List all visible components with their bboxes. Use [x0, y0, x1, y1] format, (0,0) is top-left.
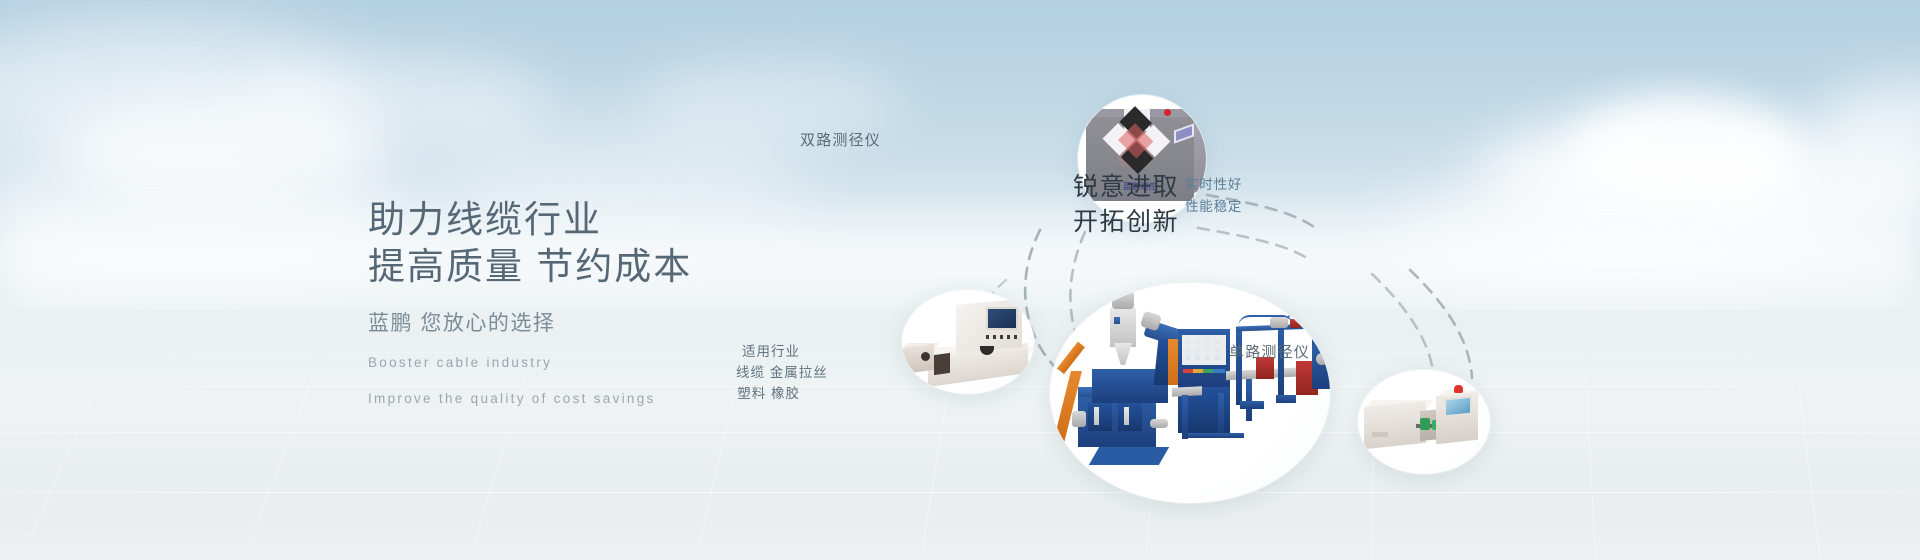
gauge-nameplate: [1372, 432, 1388, 437]
machine-panel-lights-row2: [1185, 347, 1223, 352]
machine-gantry-motor: [1270, 317, 1288, 328]
label-dual-gauge: 双路测径仪: [800, 129, 881, 150]
machine-hopper: [1110, 307, 1136, 347]
machine-trough-leg-3: [1246, 379, 1252, 421]
features-block: 实时性好 性能稳定: [1185, 174, 1242, 218]
machine-motor-left: [1072, 411, 1086, 427]
industries-block: 适用行业 线缆 金属拉丝 塑料 橡胶: [736, 341, 800, 404]
machine-gantry-foot-2: [1276, 395, 1296, 403]
bubble-single-gauge[interactable]: [1358, 370, 1490, 474]
machine-takeup-blue: [1312, 345, 1330, 389]
slogan-line-2: 开拓创新: [1073, 205, 1179, 240]
machine-gantry-foot-1: [1240, 401, 1264, 409]
machine-panel-lights-row3: [1185, 355, 1223, 360]
industries-line-3: 塑料 橡胶: [736, 383, 800, 404]
gauge-display-screen: [1444, 396, 1472, 418]
power-indicator-dot: [1164, 109, 1171, 116]
feature-line-1: 实时性好: [1185, 174, 1242, 196]
headline-copy-block: 助力线缆行业 提高质量 节约成本 蓝鹏 您放心的选择 Booster cable…: [368, 196, 692, 411]
machine-trough-leg-2: [1218, 393, 1224, 435]
machine-payoff-window-2: [1118, 403, 1142, 431]
machine-floor-mat: [1089, 447, 1169, 465]
headline-line-2: 提高质量 节约成本: [368, 243, 692, 290]
bubble-extrusion-line[interactable]: [1050, 283, 1330, 503]
feature-line-2: 性能稳定: [1185, 196, 1242, 218]
machine-hopper-badge: [1114, 317, 1120, 324]
console-lens: [921, 352, 930, 361]
machine-spool-2: [1124, 407, 1129, 425]
slogan-line-1: 锐意进取: [1073, 170, 1179, 205]
label-single-gauge: 单路测径仪: [1229, 341, 1310, 362]
english-tagline-2: Improve the quality of cost savings: [368, 386, 692, 411]
machine-gantry-post-1: [1236, 327, 1242, 405]
english-tagline-1: Booster cable industry: [368, 350, 692, 375]
machine-gantry-red-unit: [1290, 319, 1301, 328]
machine-panel-stripe: [1183, 369, 1225, 373]
gauge-green-module-1: [1420, 418, 1430, 430]
headline-line-1: 助力线缆行业: [368, 196, 692, 243]
hero-banner: 助力线缆行业 提高质量 节约成本 蓝鹏 您放心的选择 Booster cable…: [0, 0, 1920, 560]
single-gauge-illustration: [1358, 370, 1490, 474]
machine-takeup-reel: [1316, 353, 1328, 365]
subheadline: 蓝鹏 您放心的选择: [368, 309, 692, 339]
machine-hopper-stack: [1122, 285, 1127, 295]
machine-trough-crossbar: [1188, 433, 1244, 438]
machine-roller: [1150, 419, 1168, 428]
control-console-illustration: [902, 290, 1034, 394]
console-dark-panel: [934, 353, 950, 375]
machine-hopper-cone: [1114, 343, 1132, 365]
gauge-alarm-light: [1454, 385, 1463, 393]
machine-panel-lights-row1: [1185, 339, 1223, 344]
machine-payoff-window-1: [1088, 403, 1112, 431]
console-monitor-screen: [986, 307, 1018, 330]
console-button-row: [986, 335, 1018, 339]
extrusion-line-illustration: [1050, 283, 1330, 503]
slogan-block: 锐意进取 开拓创新: [1073, 170, 1179, 240]
industries-line-2: 线缆 金属拉丝: [736, 362, 800, 383]
machine-spool-1: [1094, 407, 1099, 425]
machine-orange-rail: [1057, 342, 1085, 374]
industries-title: 适用行业: [736, 341, 800, 362]
bubble-control-console[interactable]: [902, 290, 1034, 394]
